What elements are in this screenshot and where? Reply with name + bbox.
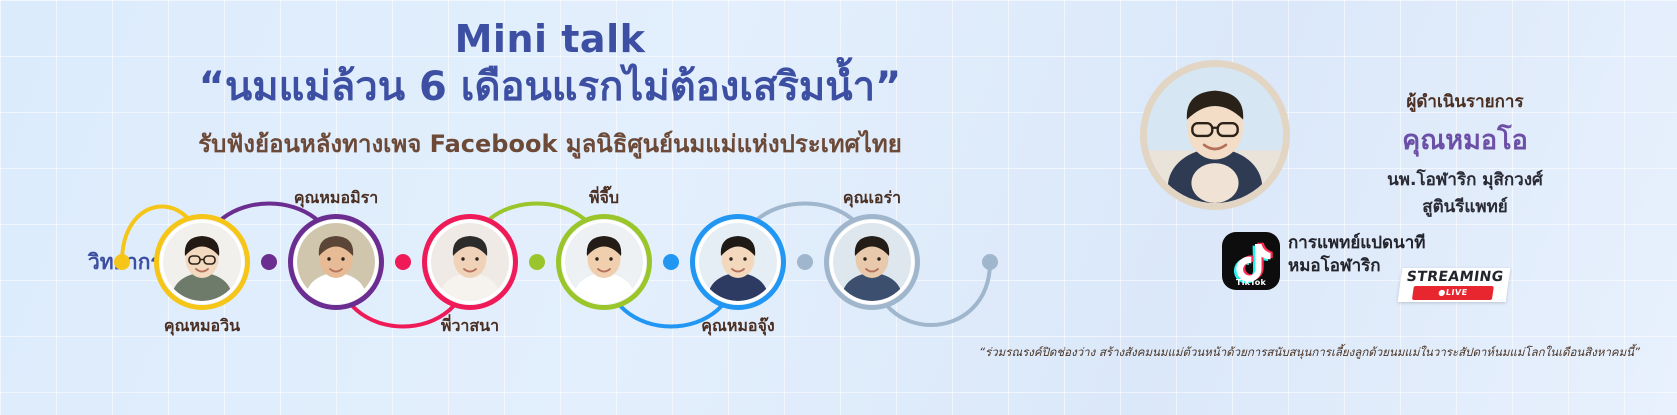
streaming-badge: STREAMING ●LIVE [1398,268,1511,302]
channel-line-1: การแพทย์แปดนาที [1288,232,1425,255]
speaker-node[interactable]: คุณหมอมิรา [288,214,384,310]
speaker-node[interactable]: คุณเอร่า [824,214,920,310]
timeline-dot [529,254,545,270]
streaming-label: STREAMING [1400,269,1510,285]
host-role: ผู้ดำเนินรายการ [1300,88,1630,115]
host-credits: ผู้ดำเนินรายการ คุณหมอโอ นพ.โอฬาริก มุสิ… [1300,88,1630,220]
speakers-timeline: คุณหมอวินคุณหมอมิราพี่วาสนาพี่จี๊บคุณหมอ… [0,182,1080,352]
timeline-dot [114,254,130,270]
host-fullname: นพ.โอฬาริก มุสิกวงศ์ [1300,166,1630,193]
speaker-name: พี่วาสนา [360,314,580,339]
host-specialty: สูตินรีแพทย์ [1300,193,1630,220]
speaker-name: คุณหมอวิน [92,314,312,339]
speaker-inner-ring [160,220,244,304]
timeline-dot [663,254,679,270]
tiktok-icon[interactable]: TikTok [1222,232,1280,290]
speaker-inner-ring [696,220,780,304]
live-label: ●LIVE [1412,286,1494,300]
speaker-node[interactable]: พี่วาสนา [422,214,518,310]
host-nickname: คุณหมอโอ [1300,118,1630,161]
header-block: Mini talk “นมแม่ล้วน 6 เดือนแรกไม่ต้องเส… [0,18,1100,163]
timeline-dot [982,254,998,270]
timeline-dot [797,254,813,270]
timeline-dot [395,254,411,270]
speaker-name: คุณหมอจุ๊ง [628,314,848,339]
speaker-name: คุณเอร่า [762,186,982,211]
speaker-node[interactable]: คุณหมอจุ๊ง [690,214,786,310]
subtitle-thai: รับฟังย้อนหลังทางเพจ Facebook มูลนิธิศูน… [0,124,1100,163]
speaker-name: พี่จี๊บ [494,186,714,211]
speaker-inner-ring [830,220,914,304]
speaker-name: คุณหมอมิรา [226,186,446,211]
headline-thai: “นมแม่ล้วน 6 เดือนแรกไม่ต้องเสริมน้ำ” [0,62,1100,112]
speaker-node[interactable]: พี่จี๊บ [556,214,652,310]
speaker-inner-ring [428,220,512,304]
speaker-inner-ring [562,220,646,304]
timeline-dot [261,254,277,270]
footnote-caption: “ร่วมรณรงค์ปิดช่องว่าง สร้างสังคมนมแม่ต้… [840,344,1640,362]
host-avatar [1140,60,1290,210]
speaker-node[interactable]: คุณหมอวิน [154,214,250,310]
host-portrait-image [1147,67,1283,203]
tiktok-label: TikTok [1222,278,1280,287]
speaker-inner-ring [294,220,378,304]
page-title: Mini talk [0,18,1100,62]
